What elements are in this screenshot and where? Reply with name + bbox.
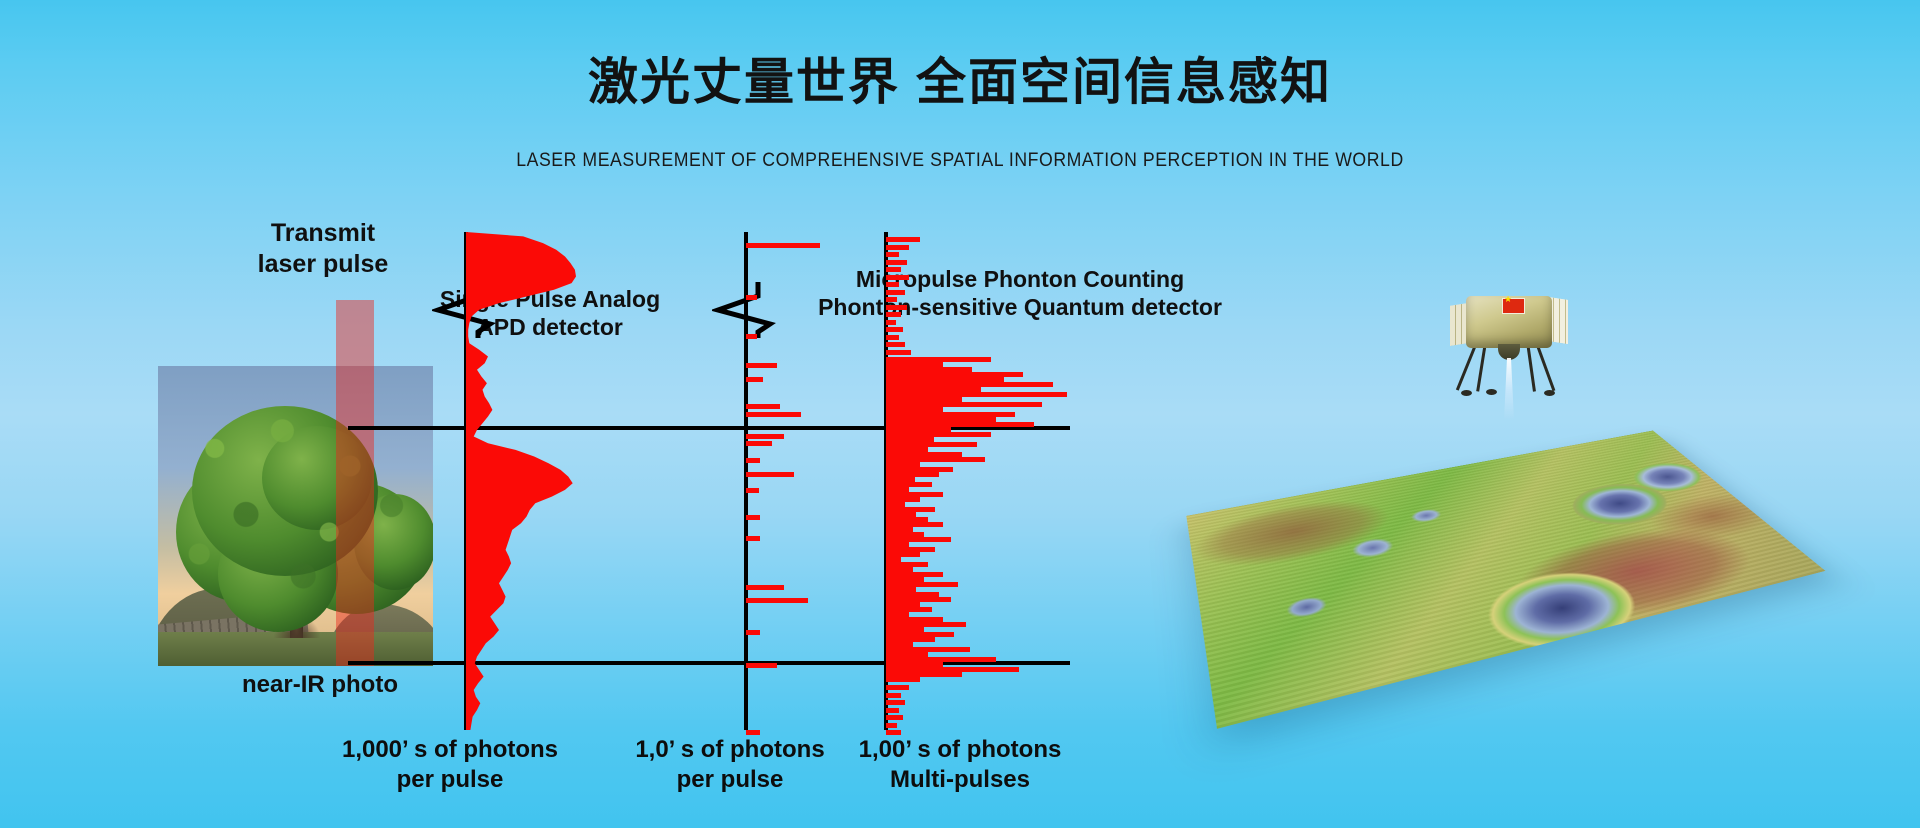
- photon-spike: [886, 320, 896, 325]
- photon-spike: [886, 685, 909, 690]
- lander-leg: [1526, 342, 1536, 392]
- photon-spike: [886, 350, 911, 355]
- waveform-micropulse-photon-counting: [886, 232, 1076, 730]
- photon-spike: [746, 243, 820, 248]
- photon-spike: [886, 342, 905, 347]
- lunar-lander: [1448, 290, 1568, 418]
- photon-spike: [746, 488, 759, 493]
- photon-spike: [886, 677, 920, 682]
- page-subtitle: LASER MEASUREMENT OF COMPREHENSIVE SPATI…: [67, 150, 1853, 172]
- photon-spike: [746, 377, 763, 382]
- photon-spike: [886, 715, 903, 720]
- transmit-laser-beam: [336, 300, 374, 666]
- photon-spike: [886, 335, 899, 340]
- photon-spike: [886, 282, 899, 287]
- footer-1-line1: 1,000’ s of photons: [342, 736, 558, 763]
- photon-spike: [886, 723, 897, 728]
- photon-spike: [746, 412, 801, 417]
- photon-spike: [886, 327, 903, 332]
- footer-2-line1: 1,0’ s of photons: [635, 736, 824, 763]
- transmit-laser-pulse-label: Transmit laser pulse: [228, 218, 418, 279]
- near-ir-tree-photo: [158, 366, 433, 666]
- photon-spike: [746, 404, 780, 409]
- photon-spike: [746, 663, 777, 668]
- infographic-canvas: 激光丈量世界 全面空间信息感知 LASER MEASUREMENT OF COM…: [0, 0, 1920, 828]
- photo-foliage-texture: [168, 400, 428, 620]
- photon-spike: [886, 245, 909, 250]
- transmit-label-line1: Transmit: [271, 219, 375, 247]
- waveform-single-pulse-analog: [466, 232, 576, 730]
- photon-spike: [746, 515, 760, 520]
- photon-spike: [746, 458, 760, 463]
- photon-spike: [886, 305, 907, 310]
- near-ir-photo-label: near-IR photo: [190, 670, 450, 699]
- footer-2-line2: per pulse: [677, 766, 784, 793]
- footer-3-line2: Multi-pulses: [890, 766, 1030, 793]
- photon-spike: [886, 693, 901, 698]
- photon-spike: [886, 700, 905, 705]
- photon-spike: [746, 363, 777, 368]
- lunar-landing-scene: [1180, 290, 1800, 720]
- photon-spike: [746, 585, 784, 590]
- photon-spike: [886, 252, 899, 257]
- photon-spike: [886, 260, 907, 265]
- photon-spike: [746, 441, 772, 446]
- lander-exhaust-plume: [1504, 358, 1514, 420]
- photon-spike: [746, 598, 808, 603]
- photon-spike: [886, 312, 901, 317]
- photon-spike: [746, 334, 757, 339]
- photon-spike: [746, 434, 784, 439]
- transmit-label-line2: laser pulse: [258, 250, 389, 278]
- photon-spike: [886, 237, 920, 242]
- footer-label-3: 1,00’ s of photons Multi-pulses: [820, 735, 1100, 795]
- waveform-photon-counting-low: [746, 232, 866, 730]
- photon-spike: [886, 708, 899, 713]
- lander-engine-nozzle: [1498, 344, 1520, 360]
- page-title: 激光丈量世界 全面空间信息感知: [0, 54, 1920, 112]
- analog-waveform-area: [466, 232, 576, 730]
- lander-leg: [1476, 342, 1487, 392]
- photon-spike: [746, 295, 757, 300]
- lander-footpad: [1486, 389, 1497, 395]
- lander-footpad: [1544, 390, 1555, 396]
- lander-footpad: [1461, 390, 1472, 396]
- photon-spike: [886, 290, 905, 295]
- chinese-flag-icon: [1502, 298, 1525, 314]
- 3d-elevation-terrain: [1186, 431, 1825, 729]
- footer-3-line1: 1,00’ s of photons: [859, 736, 1062, 763]
- photon-spike: [746, 472, 794, 477]
- footer-1-line2: per pulse: [397, 766, 504, 793]
- photon-spike: [886, 297, 897, 302]
- footer-label-1: 1,000’ s of photons per pulse: [310, 735, 590, 795]
- photon-spike: [746, 536, 760, 541]
- photon-spike: [886, 275, 909, 280]
- photon-spike: [886, 267, 901, 272]
- photon-spike: [746, 630, 760, 635]
